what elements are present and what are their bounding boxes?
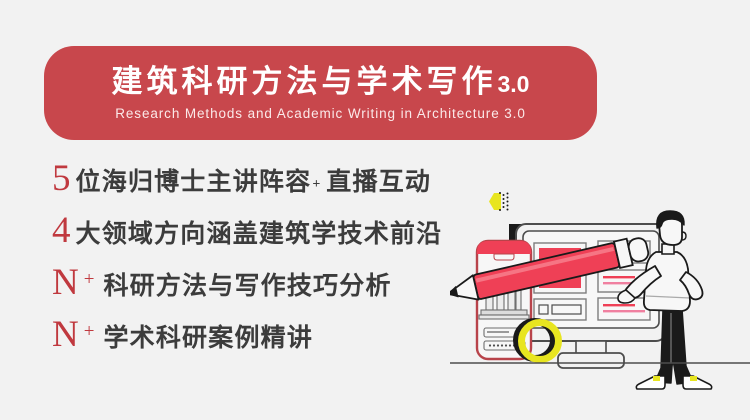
feature-label-extra: 直播互动 bbox=[326, 170, 431, 195]
dotted-badge-icon bbox=[489, 192, 509, 211]
feature-plus: + bbox=[84, 322, 95, 341]
list-item: 4 大领域方向涵盖建筑学技术前沿 bbox=[52, 212, 472, 264]
feature-label: 科研方法与写作技巧分析 bbox=[103, 274, 391, 299]
feature-plus: + bbox=[84, 270, 95, 289]
feature-inline-plus: + bbox=[311, 177, 321, 193]
list-item: N + 科研方法与写作技巧分析 bbox=[52, 264, 472, 316]
feature-list: 5 位海归博士主讲阵容 + 直播互动 4 大领域方向涵盖建筑学技术前沿 N + … bbox=[52, 160, 472, 368]
list-item: 5 位海归博士主讲阵容 + 直播互动 bbox=[52, 160, 472, 212]
banner-title-row: 建筑科研方法与学术写作 3.0 bbox=[112, 66, 530, 97]
feature-label: 大领域方向涵盖建筑学技术前沿 bbox=[76, 222, 443, 247]
illustration-person-with-pencil bbox=[450, 180, 750, 400]
title-banner: 建筑科研方法与学术写作 3.0 Research Methods and Aca… bbox=[44, 46, 597, 140]
feature-marker: 5 bbox=[52, 160, 71, 197]
feature-marker: N bbox=[52, 264, 79, 301]
feature-marker: 4 bbox=[52, 212, 71, 249]
page-title: 建筑科研方法与学术写作 bbox=[112, 66, 497, 97]
feature-label: 学术科研案例精讲 bbox=[103, 326, 313, 351]
page-subtitle-english: Research Methods and Academic Writing in… bbox=[115, 106, 525, 121]
page-title-version: 3.0 bbox=[498, 73, 530, 96]
feature-label: 位海归博士主讲阵容 bbox=[76, 170, 312, 195]
feature-marker: N bbox=[52, 316, 79, 353]
list-item: N + 学术科研案例精讲 bbox=[52, 316, 472, 368]
